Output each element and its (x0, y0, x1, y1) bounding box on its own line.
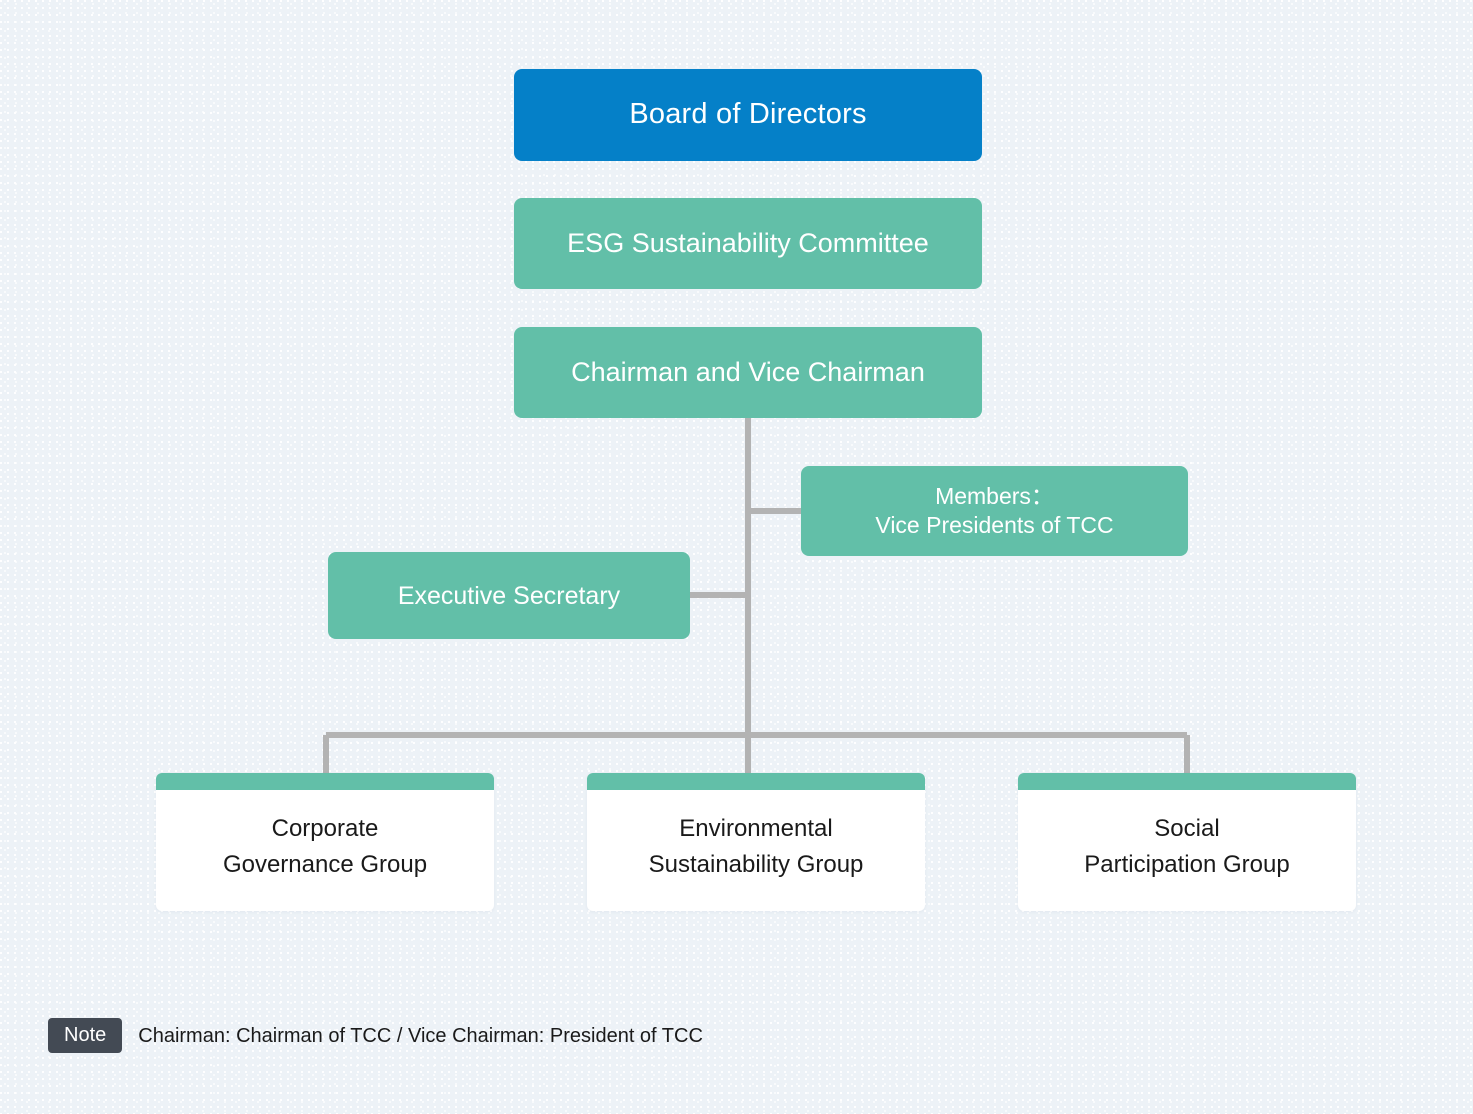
card-accent-bar (1018, 773, 1356, 790)
node-executive-secretary[interactable]: Executive Secretary (328, 552, 690, 639)
card-social-participation-group[interactable]: Social Participation Group (1018, 773, 1356, 911)
card-label: Corporate Governance Group (223, 801, 427, 884)
org-chart-canvas: Board of Directors ESG Sustainability Co… (0, 0, 1473, 1114)
note-badge: Note (48, 1018, 122, 1053)
connector-lines (0, 0, 1473, 1114)
card-accent-bar (587, 773, 925, 790)
node-members-vice-presidents[interactable]: Members： Vice Presidents of TCC (801, 466, 1188, 556)
card-label: Social Participation Group (1084, 801, 1289, 884)
note-row: Note Chairman: Chairman of TCC / Vice Ch… (48, 1018, 703, 1053)
node-esg-sustainability-committee[interactable]: ESG Sustainability Committee (514, 198, 982, 289)
card-label: Environmental Sustainability Group (649, 801, 864, 884)
note-text: Chairman: Chairman of TCC / Vice Chairma… (138, 1026, 703, 1046)
node-board-of-directors[interactable]: Board of Directors (514, 69, 982, 161)
card-accent-bar (156, 773, 494, 790)
node-chairman-and-vice-chairman[interactable]: Chairman and Vice Chairman (514, 327, 982, 418)
card-corporate-governance-group[interactable]: Corporate Governance Group (156, 773, 494, 911)
card-environmental-sustainability-group[interactable]: Environmental Sustainability Group (587, 773, 925, 911)
